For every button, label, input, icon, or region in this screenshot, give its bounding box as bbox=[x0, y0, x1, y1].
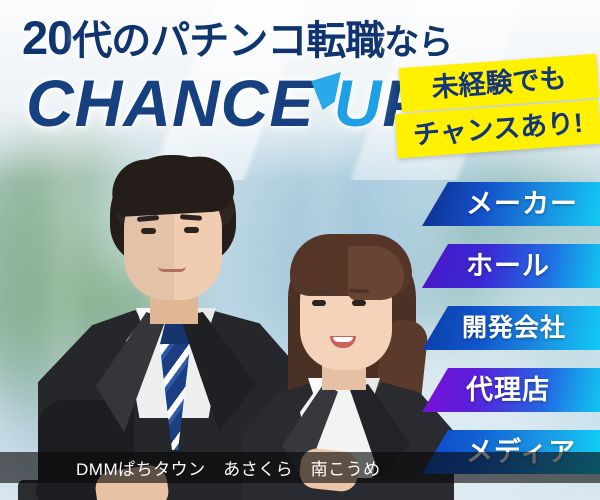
logo-letter-u: U bbox=[334, 70, 383, 136]
male-eye-left bbox=[141, 228, 156, 234]
headline-middle: 代のパチンコ転職 bbox=[72, 19, 384, 63]
caption-strip: DMMぱちタウン あさくら 南こうめ bbox=[0, 452, 600, 483]
category-bar-maker[interactable]: メーカー bbox=[422, 182, 600, 226]
male-mouth bbox=[158, 266, 186, 272]
headline-number: 20 bbox=[22, 11, 72, 64]
category-label-hall: ホール bbox=[466, 253, 550, 280]
category-bar-hall[interactable]: ホール bbox=[422, 244, 600, 288]
category-label-agency: 代理店 bbox=[466, 377, 550, 404]
male-eye-right bbox=[184, 227, 199, 233]
male-fringe bbox=[111, 155, 236, 217]
female-eye-right bbox=[352, 300, 366, 306]
badge-no-experience-label: 未経験でも bbox=[431, 65, 568, 102]
female-fringe bbox=[290, 234, 412, 296]
logo-word-chance: CHANCE bbox=[26, 66, 314, 140]
advertisement-banner[interactable]: 20代のパチンコ転職なら CHANCE UP 未経験でも チャンスあり! メーカ… bbox=[0, 0, 600, 500]
caption-text: DMMぱちタウン あさくら 南こうめ bbox=[76, 455, 381, 480]
headline-tail: なら bbox=[384, 23, 452, 62]
category-label-development-company: 開発会社 bbox=[462, 316, 566, 341]
headline-text: 20代のパチンコ転職なら bbox=[22, 14, 452, 61]
category-label-maker: メーカー bbox=[466, 191, 578, 218]
logo-chance-up: CHANCE UP bbox=[26, 70, 427, 136]
badge-chance-available-label: チャンスあり! bbox=[412, 109, 584, 148]
female-eye-left bbox=[312, 300, 326, 306]
photo-subjects bbox=[0, 150, 440, 500]
category-bar-agency[interactable]: 代理店 bbox=[422, 368, 600, 412]
category-bar-development-company[interactable]: 開発会社 bbox=[422, 306, 600, 350]
